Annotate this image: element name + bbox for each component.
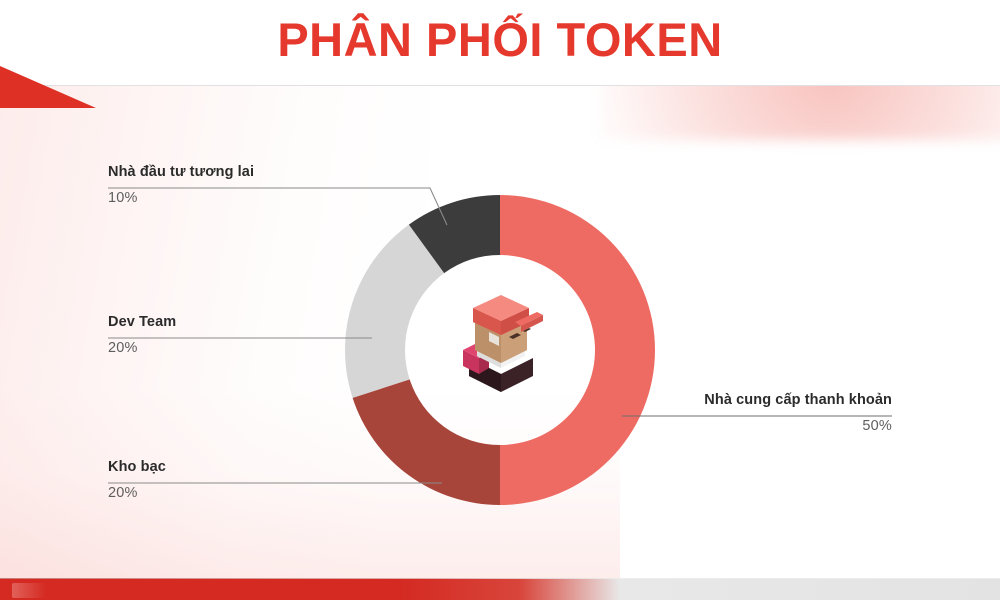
callout-value-treasury: 20% bbox=[108, 485, 166, 502]
callout-dev-team: Dev Team 20% bbox=[108, 314, 176, 358]
header-divider-line bbox=[0, 85, 1000, 86]
callout-treasury: Kho bạc 20% bbox=[108, 459, 166, 503]
callout-future-investors: Nhà đầu tư tương lai 10% bbox=[108, 164, 254, 208]
callout-value-future-investors: 10% bbox=[108, 190, 254, 207]
callout-value-liquidity-provider: 50% bbox=[606, 418, 892, 435]
voxel-character-avatar bbox=[455, 288, 547, 396]
slide-canvas: PHÂN PHỐI TOKEN bbox=[0, 0, 1000, 600]
donut-slice[interactable] bbox=[353, 379, 500, 505]
page-title: PHÂN PHỐI TOKEN bbox=[0, 12, 1000, 67]
callout-label-dev-team: Dev Team bbox=[108, 314, 176, 331]
callout-label-future-investors: Nhà đầu tư tương lai bbox=[108, 164, 254, 181]
callout-label-treasury: Kho bạc bbox=[108, 459, 166, 476]
callout-label-liquidity-provider: Nhà cung cấp thanh khoản bbox=[606, 392, 892, 409]
bottom-bar-watermark bbox=[12, 583, 46, 598]
callout-liquidity-provider: Nhà cung cấp thanh khoản 50% bbox=[606, 392, 892, 436]
callout-value-dev-team: 20% bbox=[108, 340, 176, 357]
bottom-color-bar bbox=[0, 579, 1000, 600]
